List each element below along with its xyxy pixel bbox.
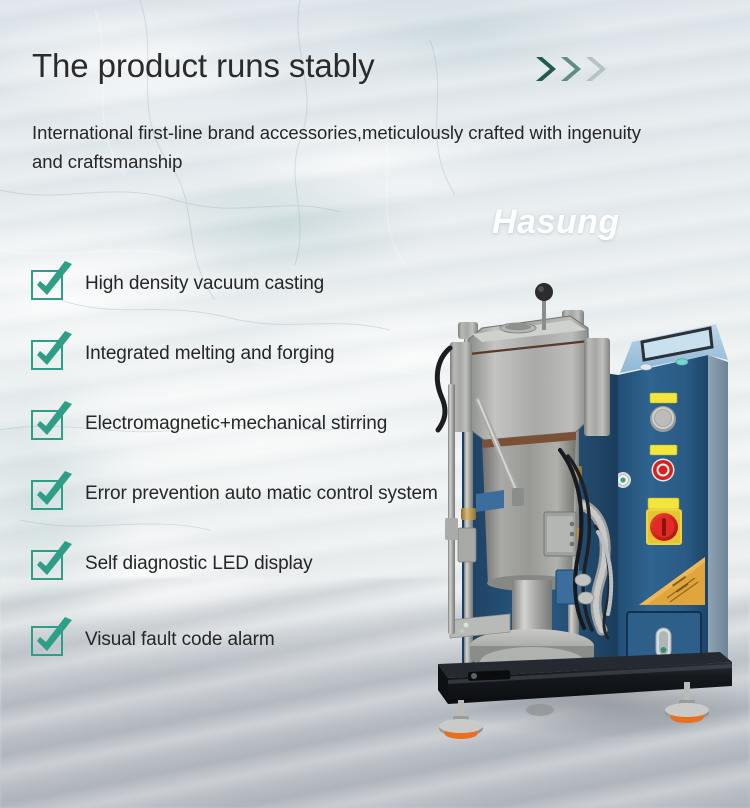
checkbox-checked-icon[interactable] bbox=[30, 338, 64, 369]
emergency-stop-button bbox=[652, 459, 675, 482]
list-item[interactable]: Error prevention auto matic control syst… bbox=[30, 478, 438, 509]
checkbox-checked-icon[interactable] bbox=[30, 408, 64, 439]
junction-box-right bbox=[544, 512, 576, 556]
cabinet-side-face bbox=[708, 355, 728, 672]
label-strip-emergency-stop bbox=[650, 445, 677, 455]
brand-watermark: Hasung bbox=[492, 203, 620, 242]
list-item-label: Error prevention auto matic control syst… bbox=[85, 483, 438, 505]
strut-foot bbox=[512, 488, 524, 506]
indicator-light-left bbox=[640, 364, 652, 370]
list-item[interactable]: Self diagnostic LED display bbox=[30, 548, 313, 579]
checkbox-checked-icon[interactable] bbox=[30, 548, 64, 579]
page-title: The product runs stably bbox=[32, 47, 375, 85]
gray-push-button bbox=[650, 406, 676, 432]
brass-collar-left-bottom bbox=[461, 508, 476, 520]
access-door-handle bbox=[656, 628, 671, 658]
page-subtitle: International first-line brand accessori… bbox=[32, 118, 672, 176]
chevron-right-icon-2 bbox=[558, 55, 582, 83]
checkbox-checked-icon[interactable] bbox=[30, 624, 64, 655]
sensor-box-left bbox=[458, 528, 476, 562]
left-pipe-collar bbox=[445, 518, 458, 540]
leveling-foot-rear bbox=[526, 704, 554, 716]
label-strip-rotary-switch bbox=[648, 498, 679, 509]
label-strip-push-button bbox=[650, 393, 677, 403]
list-item-label: Electromagnetic+mechanical stirring bbox=[85, 413, 387, 435]
chevron-right-icon-3 bbox=[583, 55, 607, 83]
list-item[interactable]: High density vacuum casting bbox=[30, 268, 324, 299]
list-item[interactable]: Electromagnetic+mechanical stirring bbox=[30, 408, 387, 439]
list-item-label: Self diagnostic LED display bbox=[85, 553, 313, 575]
list-item-label: High density vacuum casting bbox=[85, 273, 324, 295]
list-item[interactable]: Visual fault code alarm bbox=[30, 624, 275, 655]
list-item[interactable]: Integrated melting and forging bbox=[30, 338, 334, 369]
lid-lever-shaft bbox=[542, 296, 546, 330]
list-item-label: Integrated melting and forging bbox=[85, 343, 334, 365]
checkbox-checked-icon[interactable] bbox=[30, 478, 64, 509]
lid-lever-knob bbox=[535, 283, 553, 301]
lid-side-block-right bbox=[584, 338, 610, 436]
chevron-decoration bbox=[533, 55, 607, 83]
indicator-light-right bbox=[676, 359, 688, 365]
product-image bbox=[420, 280, 750, 750]
left-vertical-pipe bbox=[448, 384, 455, 634]
chevron-right-icon-1 bbox=[533, 55, 557, 83]
list-item-label: Visual fault code alarm bbox=[85, 629, 275, 651]
red-rotary-switch bbox=[646, 509, 682, 545]
checkbox-checked-icon[interactable] bbox=[30, 268, 64, 299]
promo-banner: The product runs stably International fi… bbox=[0, 0, 750, 808]
